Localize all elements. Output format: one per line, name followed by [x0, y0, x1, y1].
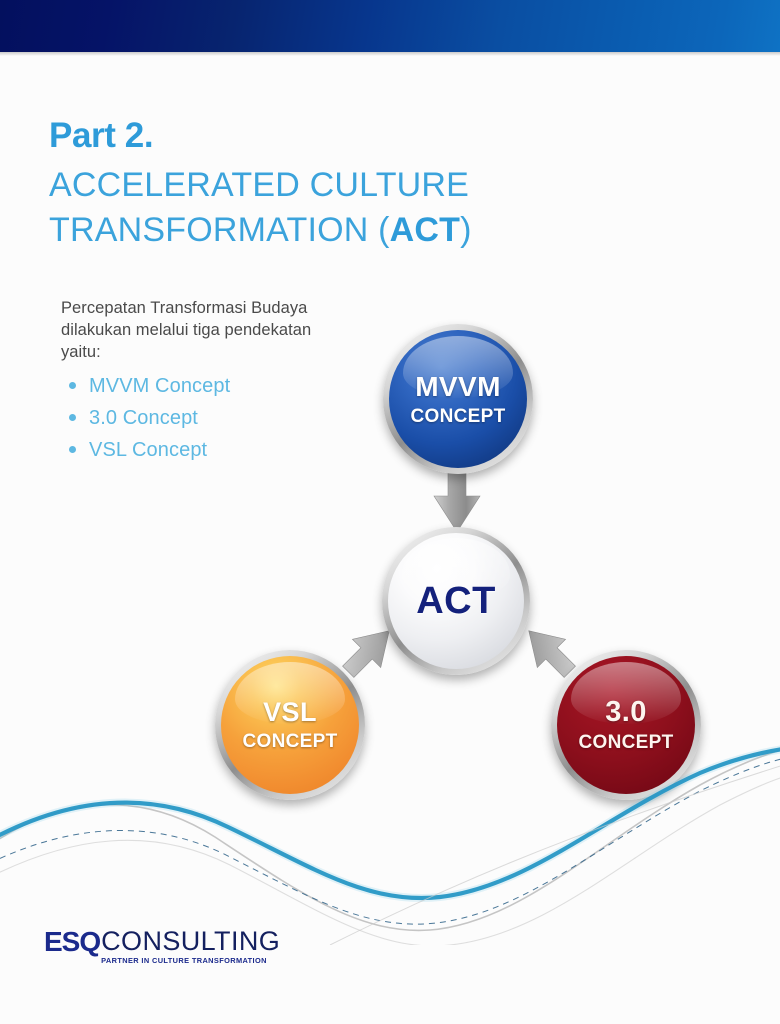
list-item-label: VSL Concept — [89, 439, 207, 461]
node-subtitle: CONCEPT — [579, 733, 674, 752]
list-item: 3.0 Concept — [61, 402, 391, 434]
node-title: MVVM — [411, 373, 506, 401]
list-item-label: MVVM Concept — [89, 375, 230, 397]
slide-canvas: Part 2. ACCELERATED CULTURE TRANSFORMATI… — [0, 0, 780, 1024]
headline-line-2-suffix: ) — [460, 211, 472, 249]
headline-act-strong: ACT — [390, 211, 460, 249]
part-label: Part 2. — [49, 116, 609, 155]
concept-bullet-list: MVVM Concept 3.0 Concept VSL Concept — [61, 370, 391, 466]
page-title: Part 2. ACCELERATED CULTURE TRANSFORMATI… — [49, 116, 609, 254]
node-label: 3.0 CONCEPT — [579, 698, 674, 752]
body-copy: Percepatan Transformasi Budaya dilakukan… — [61, 298, 391, 466]
headline: ACCELERATED CULTURE TRANSFORMATION (ACT) — [49, 163, 609, 253]
bullet-dot-icon — [69, 414, 76, 421]
headline-line-2-prefix: TRANSFORMATION ( — [49, 211, 390, 249]
logo-wordmark-group: CONSULTING PARTNER IN CULTURE TRANSFORMA… — [101, 928, 280, 964]
headline-line-1: ACCELERATED CULTURE — [49, 166, 469, 204]
list-item-label: 3.0 Concept — [89, 407, 198, 429]
header-banner — [0, 0, 780, 52]
logo-mark: ESQ — [44, 928, 100, 956]
decorative-waves — [0, 745, 780, 945]
node-mvvm-concept[interactable]: MVVM CONCEPT — [383, 324, 533, 474]
node-title: 3.0 — [579, 698, 674, 727]
bullet-dot-icon — [69, 382, 76, 389]
node-title: VSL — [243, 699, 338, 726]
bullet-dot-icon — [69, 446, 76, 453]
header-banner-shadow — [0, 52, 780, 56]
arrow-mvvm-to-act-icon — [427, 466, 487, 534]
logo-tagline: PARTNER IN CULTURE TRANSFORMATION — [101, 957, 280, 964]
node-label: MVVM CONCEPT — [411, 373, 506, 426]
list-item: VSL Concept — [61, 434, 391, 466]
esq-consulting-logo: ESQ CONSULTING PARTNER IN CULTURE TRANSF… — [44, 928, 280, 964]
node-label: ACT — [416, 582, 496, 620]
logo-wordmark: CONSULTING — [101, 928, 280, 955]
node-label: VSL CONCEPT — [243, 699, 338, 751]
node-act-center[interactable]: ACT — [382, 527, 530, 675]
intro-paragraph: Percepatan Transformasi Budaya dilakukan… — [61, 298, 391, 364]
node-subtitle: CONCEPT — [411, 407, 506, 426]
list-item: MVVM Concept — [61, 370, 391, 402]
node-subtitle: CONCEPT — [243, 732, 338, 751]
node-title: ACT — [416, 582, 496, 620]
